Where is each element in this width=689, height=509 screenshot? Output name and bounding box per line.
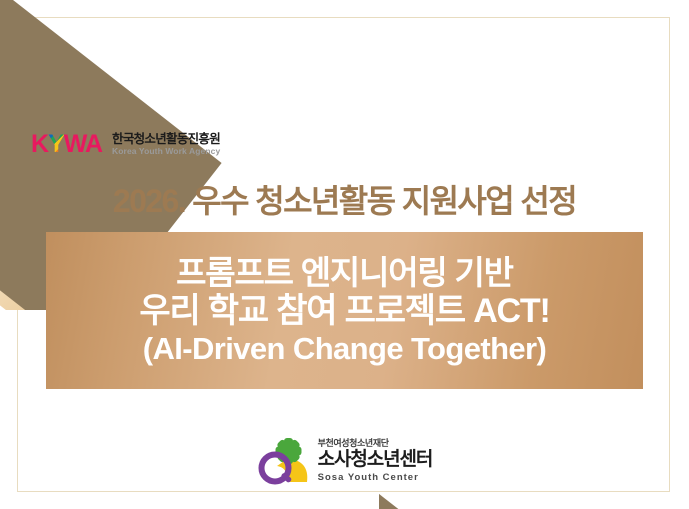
main-title-line-2: 우리 학교 참여 프로젝트 ACT! (139, 293, 549, 330)
kywa-letters-wa: WA (64, 132, 102, 157)
poster-canvas: KYWA 한국청소년활동진흥원 Korea Youth Work Agency … (0, 0, 689, 509)
main-title-line-3: (AI-Driven Change Together) (143, 332, 546, 365)
sosa-youth-center-logo: 부천여성청소년재단 소사청소년센터 Sosa Youth Center (0, 436, 689, 486)
page-headline: 2026. 우수 청소년활동 지원사업 선정 (0, 176, 689, 222)
kywa-logo: KYWA 한국청소년활동진흥원 Korea Youth Work Agency (31, 132, 220, 157)
main-title-line-1: 프롬프트 엔지니어링 기반 (176, 255, 513, 291)
kywa-wordmark-icon: KYWA (31, 132, 102, 157)
kywa-name-english: Korea Youth Work Agency (112, 147, 220, 157)
kywa-letter-y-rainbow-icon: Y (48, 132, 64, 157)
kywa-letter-k: K (31, 132, 48, 157)
sosa-center-name-korean: 소사청소년센터 (318, 450, 433, 471)
sosa-center-name-english: Sosa Youth Center (318, 473, 419, 483)
kywa-name-korean: 한국청소년활동진흥원 (112, 132, 220, 146)
main-title-box: 프롬프트 엔지니어링 기반 우리 학교 참여 프로젝트 ACT! (AI-Dri… (46, 232, 643, 389)
kywa-agency-name: 한국청소년활동진흥원 Korea Youth Work Agency (112, 132, 220, 157)
sosa-foundation-name: 부천여성청소년재단 (318, 439, 389, 449)
sosa-logo-text: 부천여성청소년재단 소사청소년센터 Sosa Youth Center (318, 439, 433, 483)
sosa-logo-mark-icon (257, 436, 309, 486)
